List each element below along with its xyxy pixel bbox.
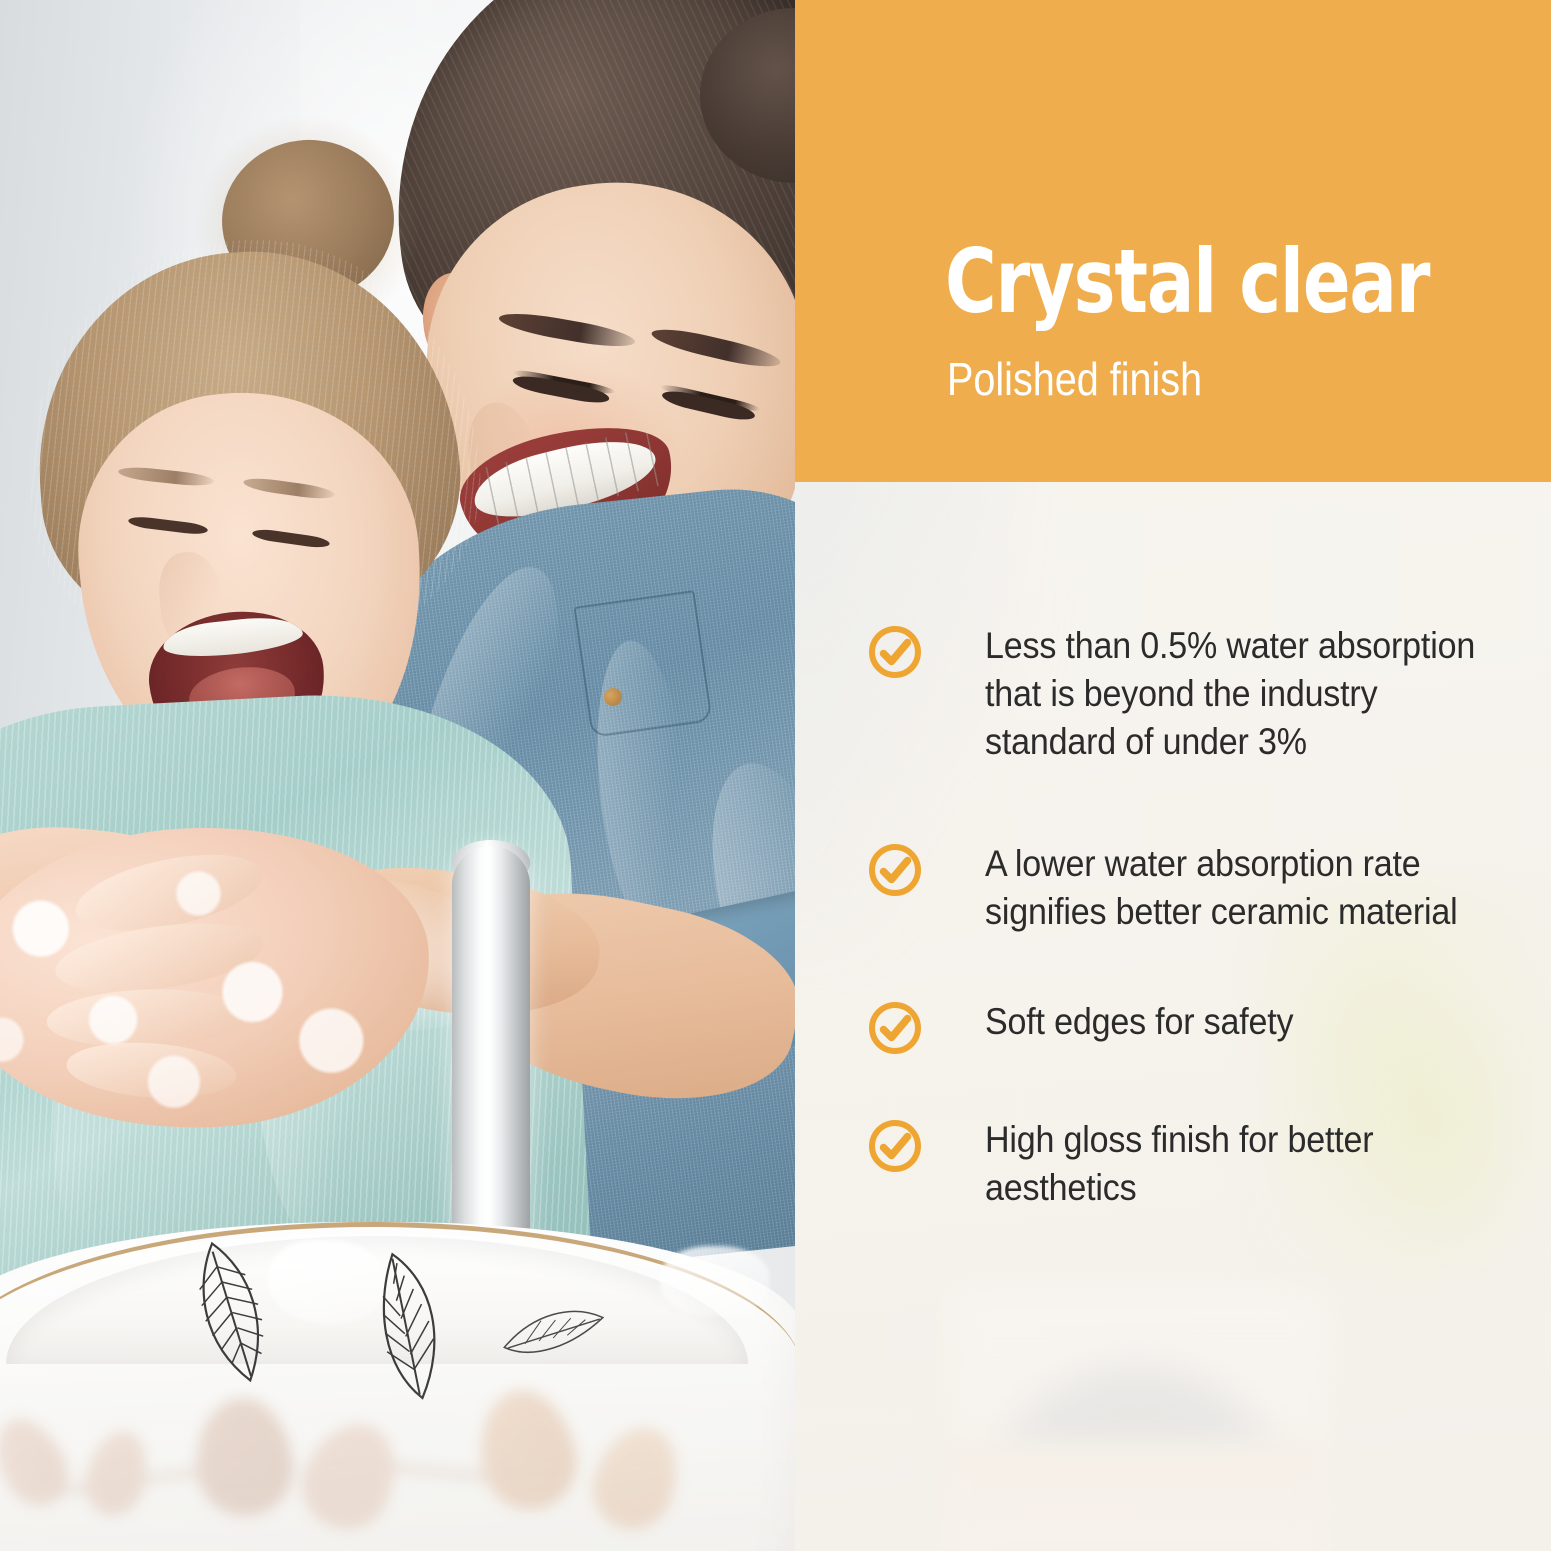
soapy-hands: [0, 812, 440, 1144]
denim-chest-pocket: [573, 590, 712, 738]
infographic-canvas: Crystal clear Polished finish Less than …: [0, 0, 1551, 1551]
lifestyle-photo: [0, 0, 795, 1551]
chrome-faucet: [452, 846, 530, 1266]
feature-item: High gloss finish for better aesthetics: [867, 1116, 1527, 1212]
soap-suds: [0, 812, 440, 1144]
check-circle-icon: [867, 624, 923, 680]
page-title: Crystal clear: [945, 238, 1429, 326]
feature-item: Less than 0.5% water absorption that is …: [867, 622, 1527, 766]
feature-text: High gloss finish for better aesthetics: [985, 1116, 1484, 1212]
check-circle-icon: [867, 1118, 923, 1174]
feature-item: A lower water absorption rate signifies …: [867, 840, 1527, 936]
photo-bottom-fade: [0, 1371, 795, 1551]
check-circle-icon: [867, 1000, 923, 1056]
feature-text: Soft edges for safety: [985, 998, 1484, 1046]
page-subtitle: Polished finish: [947, 356, 1202, 402]
feature-text: A lower water absorption rate signifies …: [985, 840, 1484, 936]
basin-highlight: [660, 1246, 770, 1316]
feature-item: Soft edges for safety: [867, 998, 1527, 1056]
header-band: Crystal clear Polished finish: [795, 0, 1551, 482]
check-circle-icon: [867, 842, 923, 898]
feature-text: Less than 0.5% water absorption that is …: [985, 622, 1484, 766]
feature-panel: Crystal clear Polished finish Less than …: [795, 0, 1551, 1551]
